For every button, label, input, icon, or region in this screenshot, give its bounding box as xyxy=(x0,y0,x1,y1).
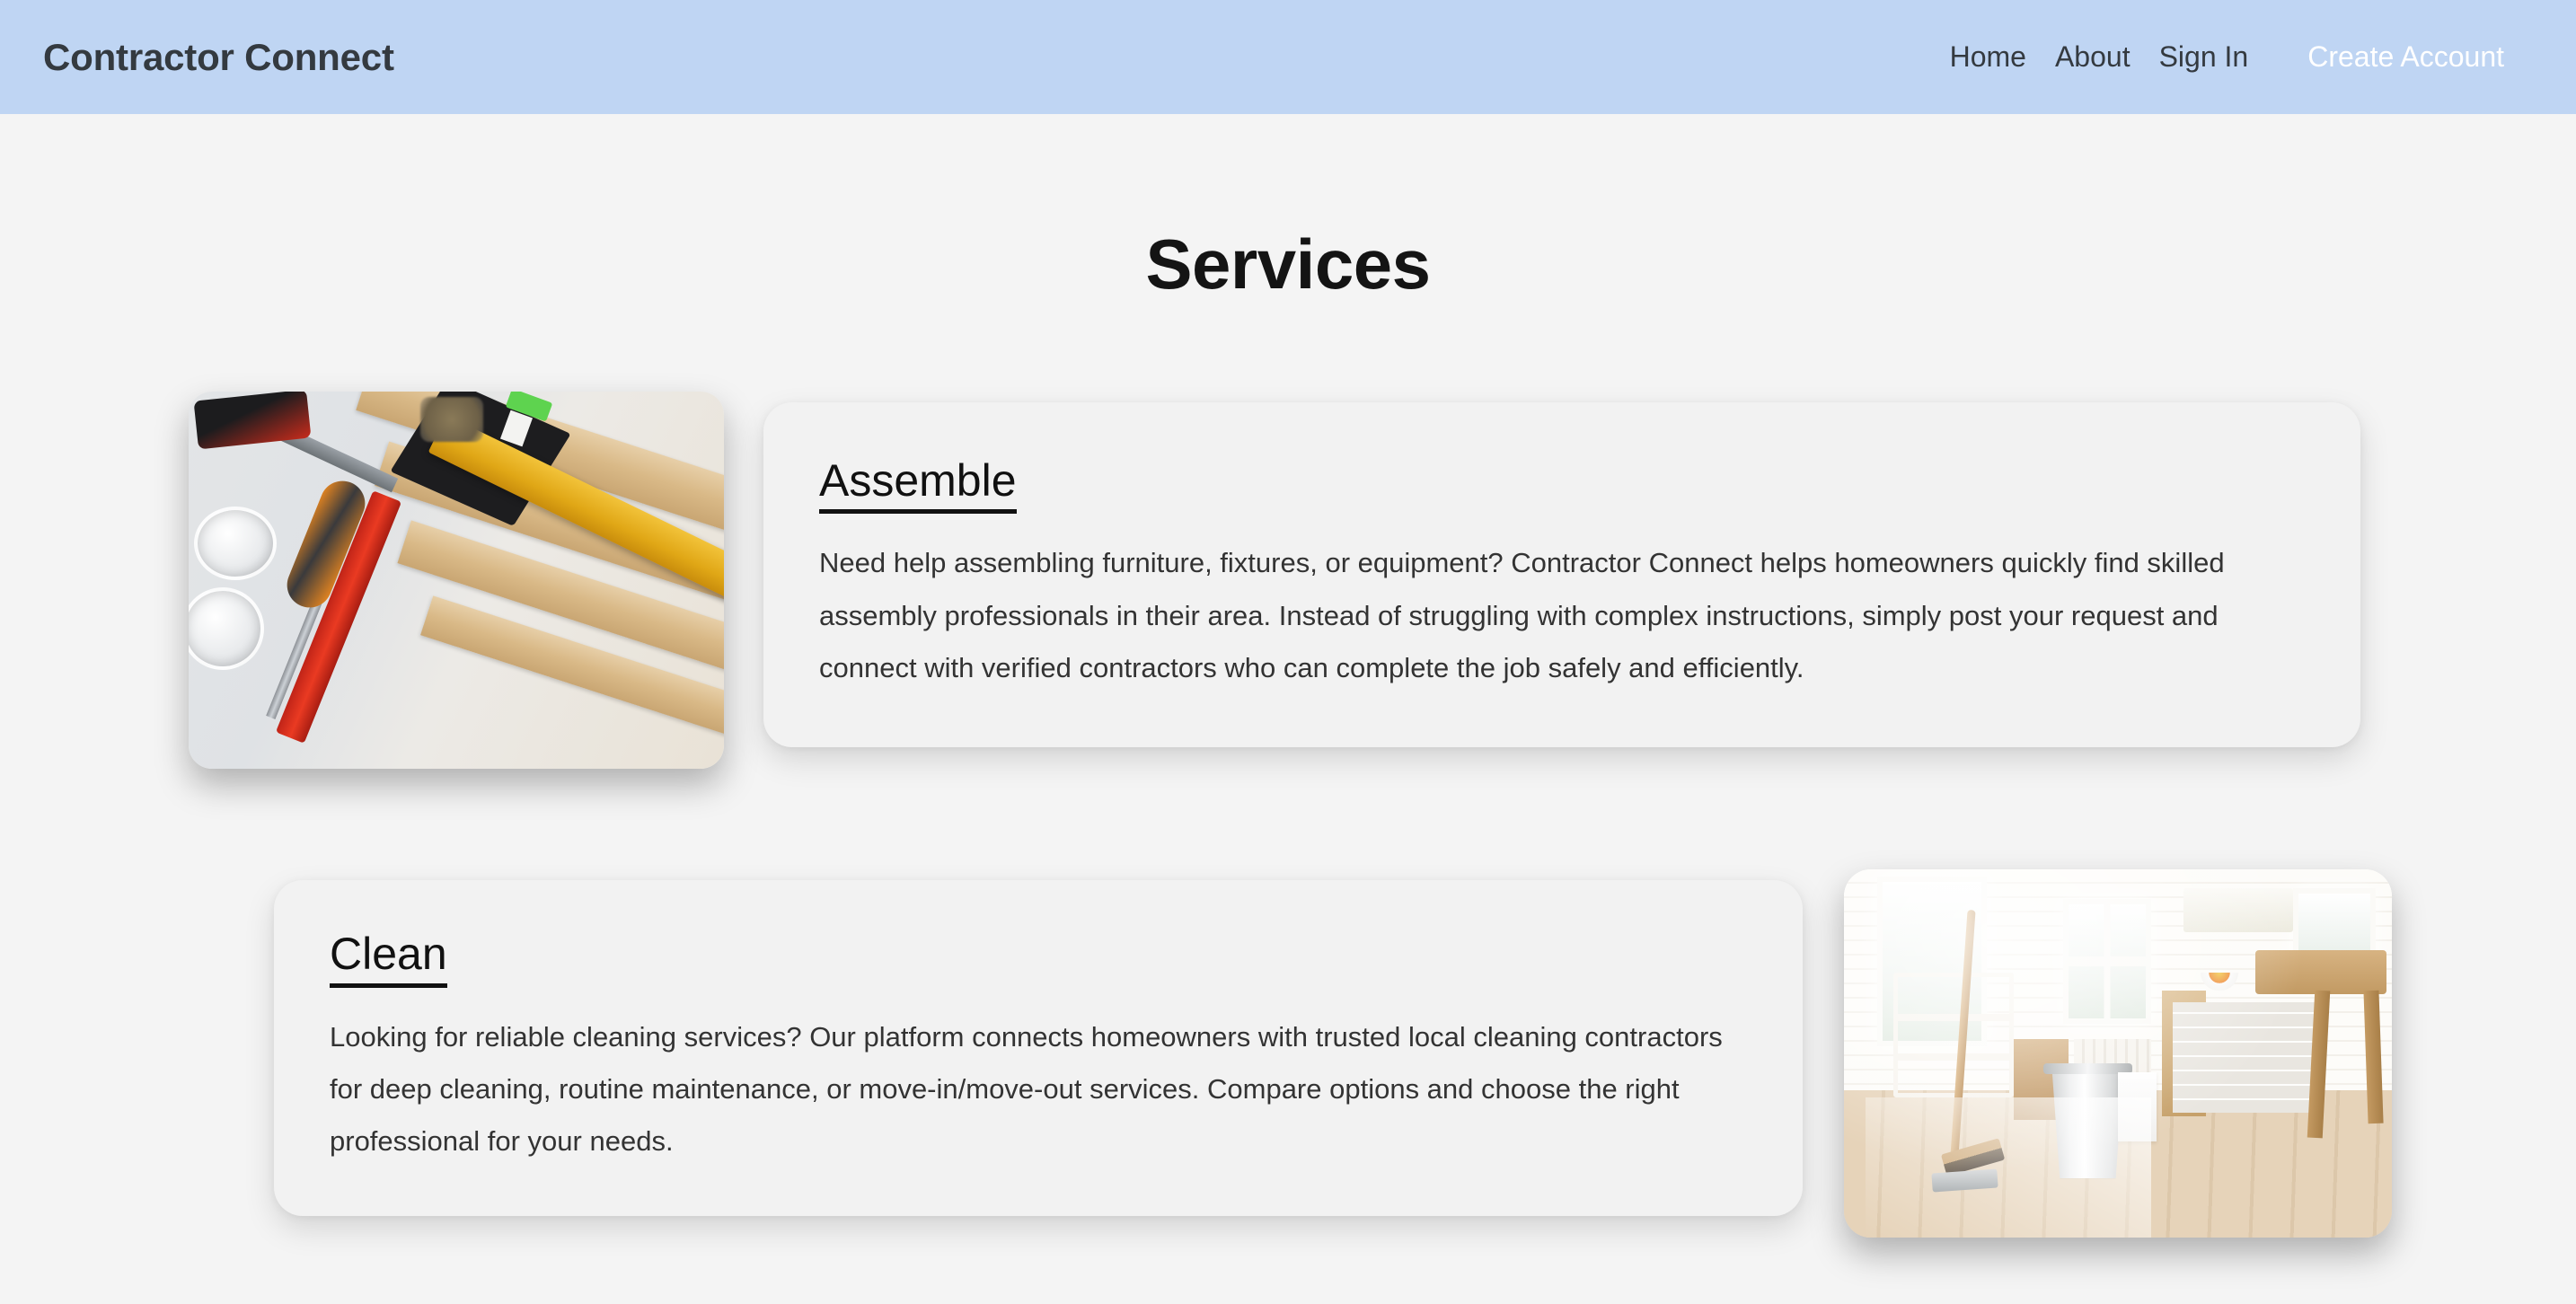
main-content: Services xyxy=(0,114,2576,1238)
create-account-button[interactable]: Create Account xyxy=(2286,31,2526,83)
service-row-assemble: Assemble Need help assembling furniture,… xyxy=(0,392,2576,769)
services-list: Assemble Need help assembling furniture,… xyxy=(0,392,2576,1238)
brand-logo[interactable]: Contractor Connect xyxy=(43,36,394,79)
tools-illustration xyxy=(189,392,724,769)
service-heading-clean[interactable]: Clean xyxy=(330,930,447,988)
service-description-assemble: Need help assembling furniture, fixtures… xyxy=(819,537,2305,694)
primary-nav: Home About Sign In Create Account xyxy=(1936,31,2533,83)
service-card-clean: Clean Looking for reliable cleaning serv… xyxy=(274,880,1803,1216)
service-card-assemble: Assemble Need help assembling furniture,… xyxy=(763,402,2360,747)
service-description-clean: Looking for reliable cleaning services? … xyxy=(330,1011,1747,1168)
kitchen-illustration xyxy=(1844,869,2392,1238)
site-header: Contractor Connect Home About Sign In Cr… xyxy=(0,0,2576,114)
nav-link-about[interactable]: About xyxy=(2041,31,2145,83)
page-title: Services xyxy=(0,114,2576,305)
nav-link-home[interactable]: Home xyxy=(1936,31,2041,83)
assembly-tools-photo xyxy=(189,392,724,769)
service-heading-assemble[interactable]: Assemble xyxy=(819,457,1017,515)
nav-link-sign-in[interactable]: Sign In xyxy=(2145,31,2263,83)
cleaning-kitchen-photo xyxy=(1844,869,2392,1238)
service-row-clean: Clean Looking for reliable cleaning serv… xyxy=(0,869,2576,1238)
